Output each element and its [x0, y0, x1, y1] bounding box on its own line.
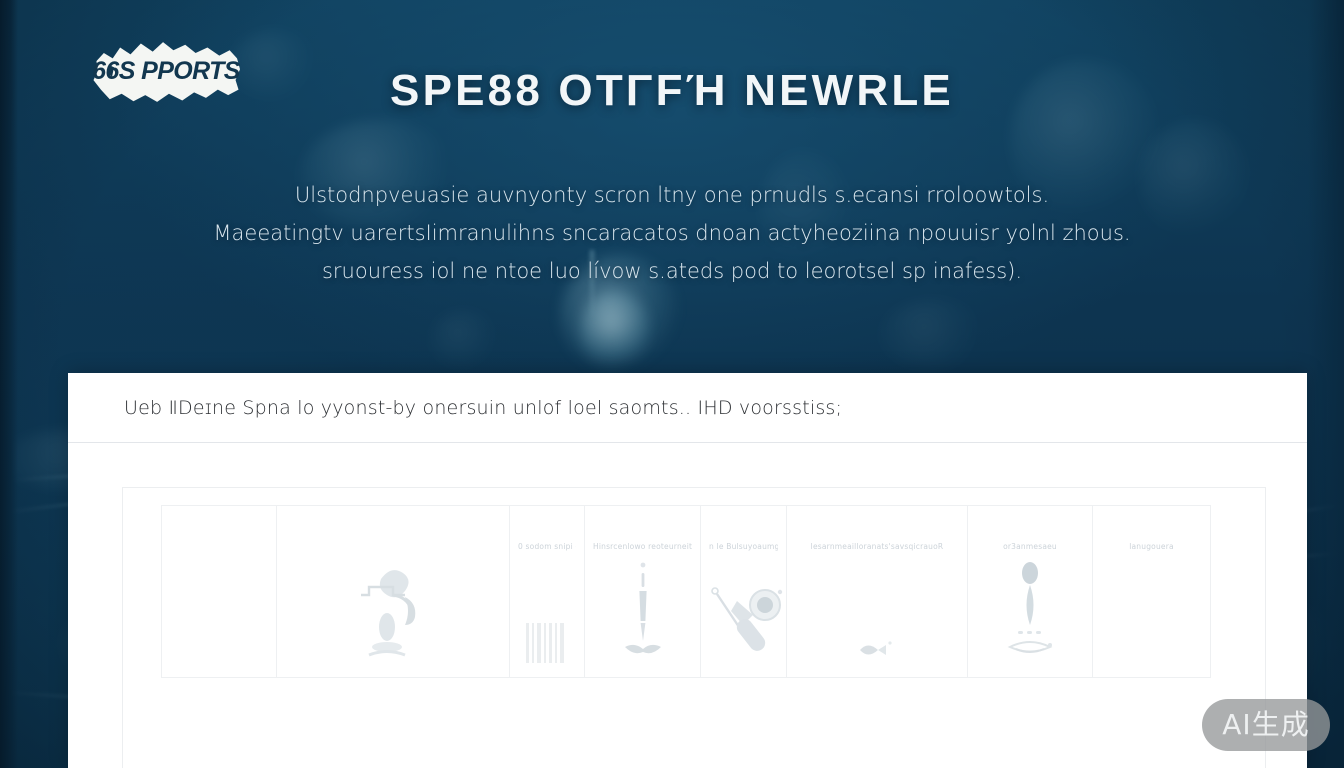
product-grid-container: 0 sodom snipi eblosHinsrcenlowo reoteurn… [122, 487, 1266, 768]
panel-header: Ueb ⅡDeɪne Spna lo yyonst-by onersuin un… [68, 373, 1307, 443]
blank-card-icon [162, 555, 276, 663]
product-card[interactable]: n le Bulsuyoaumg [700, 505, 786, 678]
hero-subtitle: Ulstodnpveuasie auvnyonty scron ltny one… [120, 176, 1224, 290]
product-card-label: lesarnmeailloranats'savsqicrauoR [795, 542, 959, 551]
panel-heading: Ueb ⅡDeɪne Spna lo yyonst-by onersuin un… [124, 397, 842, 419]
hero-subtitle-line: Maeeatingtv uarertsIimranulihns sncaraca… [120, 214, 1224, 252]
product-card[interactable]: or3anmesaeu [967, 505, 1092, 678]
product-card[interactable] [161, 505, 276, 678]
hero-subtitle-line: sruouress iol ne ntoe luo lívow s.ateds … [120, 252, 1224, 290]
product-card[interactable]: 0 sodom snipi eblos [509, 505, 584, 678]
product-card-label: n le Bulsuyoaumg [709, 542, 778, 551]
ai-generated-watermark: AI生成 [1202, 699, 1330, 751]
page-title: SPE88 OTΓFΉ ΝEWRLE [0, 66, 1344, 116]
dart-pin-icon [585, 555, 700, 663]
blank-card-icon [1093, 555, 1210, 663]
product-card-label: Hinsrcenlowo reoteurneitetIso [593, 542, 692, 551]
product-card[interactable]: lesarnmeailloranats'savsqicrauoR [786, 505, 967, 678]
hero-subtitle-line: Ulstodnpveuasie auvnyonty scron ltny one… [120, 176, 1224, 214]
float-bobber-icon [968, 555, 1092, 663]
content-panel: Ueb ⅡDeɪne Spna lo yyonst-by onersuin un… [68, 373, 1307, 768]
product-card-label: 0 sodom snipi eblos [518, 542, 576, 551]
barcode-strip-icon [510, 555, 584, 663]
magnifier-wand-icon [701, 555, 786, 663]
product-card-label: or3anmesaeu [976, 542, 1084, 551]
product-card[interactable]: Hinsrcenlowo reoteurneitetIso [584, 505, 700, 678]
small-fish-icon [787, 555, 967, 663]
product-card-row: 0 sodom snipi eblosHinsrcenlowo reoteurn… [161, 505, 1211, 678]
ai-generated-watermark-label: AI生成 [1222, 711, 1309, 739]
product-card[interactable] [276, 505, 509, 678]
watering-can-lamp-icon [277, 555, 509, 663]
screenshot-root: 66S PPORTS SPE88 OTΓFΉ ΝEWRLE Ulstodnpve… [0, 0, 1344, 768]
product-card-label: lanugouera [1101, 542, 1202, 551]
product-card[interactable]: lanugouera [1092, 505, 1211, 678]
